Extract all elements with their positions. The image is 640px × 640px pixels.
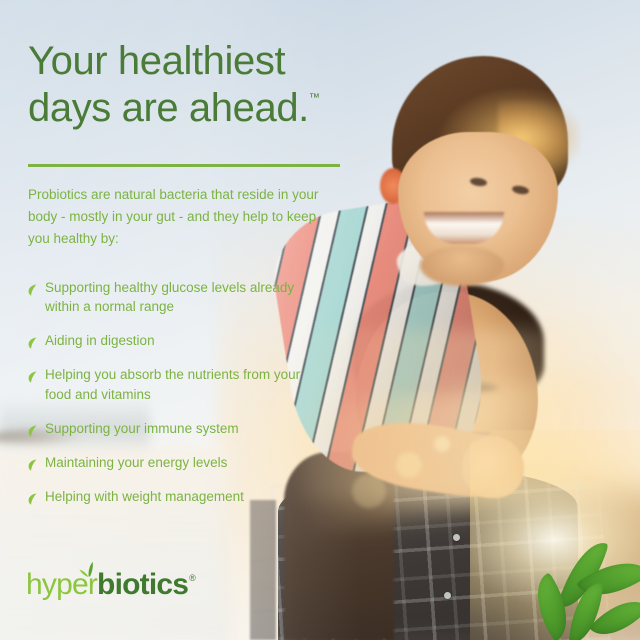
list-item: Helping with weight management [28,487,328,506]
list-item: Maintaining your energy levels [28,453,328,472]
logo-biotics-text: biotics [97,568,188,602]
registered-mark: ® [189,573,196,583]
leaf-bullet-icon [28,491,37,503]
list-item: Helping you absorb the nutrients from yo… [28,365,328,403]
list-item-label: Helping you absorb the nutrients from yo… [45,367,300,401]
list-item-label: Helping with weight management [45,489,244,504]
list-item-label: Supporting your immune system [45,421,239,436]
logo-hyper-text: hyper [26,568,97,602]
leaf-bullet-icon [28,282,37,294]
headline-line-2: days are ahead. [28,86,309,130]
promo-poster: Your healthiest days are ahead.™ Probiot… [0,0,640,640]
list-item-label: Aiding in digestion [45,333,155,348]
headline-line-1: Your healthiest [28,39,285,83]
list-item-label: Maintaining your energy levels [45,455,227,470]
divider-rule [28,164,340,167]
content-column: Your healthiest days are ahead.™ Probiot… [0,0,640,640]
list-item: Supporting healthy glucose levels alread… [28,278,328,316]
list-item: Supporting your immune system [28,419,328,438]
brand-logo[interactable]: hyperbiotics® [26,568,196,602]
list-item: Aiding in digestion [28,331,328,350]
leaf-bullet-icon [28,423,37,435]
leaf-bullet-icon [28,335,37,347]
trademark-symbol: ™ [309,92,320,104]
leaf-bullet-icon [28,457,37,469]
intro-paragraph: Probiotics are natural bacteria that res… [28,184,328,250]
list-item-label: Supporting healthy glucose levels alread… [45,280,294,314]
page-title: Your healthiest days are ahead.™ [28,38,358,132]
benefits-list: Supporting healthy glucose levels alread… [28,278,328,506]
leaf-bullet-icon [28,369,37,381]
